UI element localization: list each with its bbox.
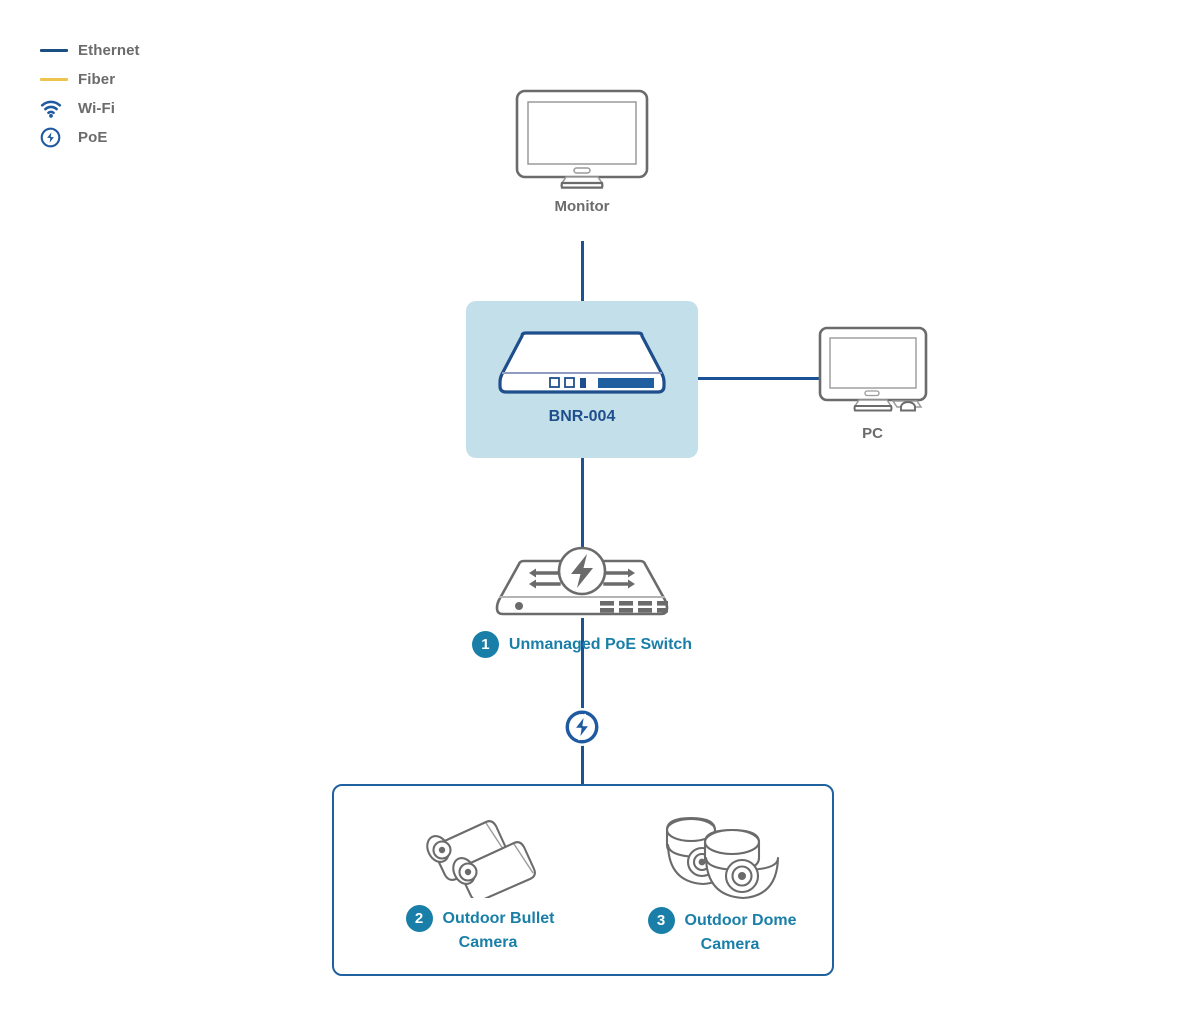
line-solid-icon [40, 78, 74, 81]
nvr-recorder-icon [466, 330, 698, 400]
dome-camera-icon [612, 812, 832, 900]
legend-label-wifi: Wi-Fi [74, 100, 115, 117]
line-solid-icon [40, 49, 74, 52]
badge-number-1: 1 [472, 631, 499, 658]
node-dome-camera[interactable]: 3 Outdoor Dome Camera [612, 812, 832, 954]
link-monitor-to-bnr [581, 241, 584, 303]
node-label-pc: PC [800, 425, 945, 442]
node-label-bullet-camera-line1: Outdoor Bullet [443, 909, 555, 928]
network-switch-icon [432, 540, 732, 622]
node-label-dome-camera-row: 3 Outdoor Dome Camera [612, 907, 832, 954]
node-label-bnr-004: BNR-004 [466, 408, 698, 426]
node-label-bullet-camera-row: 2 Outdoor Bullet Camera [370, 905, 590, 952]
node-pc[interactable]: PC [800, 325, 945, 442]
legend-label-ethernet: Ethernet [74, 42, 140, 59]
desktop-pc-icon [800, 325, 945, 417]
legend-item-wifi: Wi-Fi [40, 94, 240, 123]
node-label-bullet-camera-line2: Camera [370, 934, 590, 952]
poe-bolt-icon [563, 708, 601, 746]
node-monitor[interactable]: Monitor [497, 88, 667, 215]
node-bnr-004[interactable]: BNR-004 [466, 330, 698, 426]
node-label-dome-camera-line1: Outdoor Dome [685, 911, 797, 930]
network-diagram: Ethernet Fiber Wi-Fi [0, 0, 1200, 1034]
legend-label-fiber: Fiber [74, 71, 115, 88]
node-poe-switch[interactable]: 1 Unmanaged PoE Switch [432, 540, 732, 658]
bullet-camera-icon [370, 812, 590, 898]
legend: Ethernet Fiber Wi-Fi [40, 36, 240, 152]
badge-number-2: 2 [406, 905, 433, 932]
node-label-dome-camera-line2: Camera [612, 936, 832, 954]
poe-bolt-icon [40, 127, 74, 148]
node-label-poe-switch: Unmanaged PoE Switch [509, 635, 692, 654]
node-label-poe-switch-row: 1 Unmanaged PoE Switch [432, 631, 732, 658]
legend-label-poe: PoE [74, 129, 107, 146]
node-label-monitor: Monitor [497, 198, 667, 215]
monitor-icon [497, 88, 667, 190]
legend-item-ethernet: Ethernet [40, 36, 240, 65]
node-bullet-camera[interactable]: 2 Outdoor Bullet Camera [370, 812, 590, 952]
legend-item-fiber: Fiber [40, 65, 240, 94]
legend-item-poe: PoE [40, 123, 240, 152]
wifi-icon [40, 100, 74, 118]
badge-number-3: 3 [648, 907, 675, 934]
